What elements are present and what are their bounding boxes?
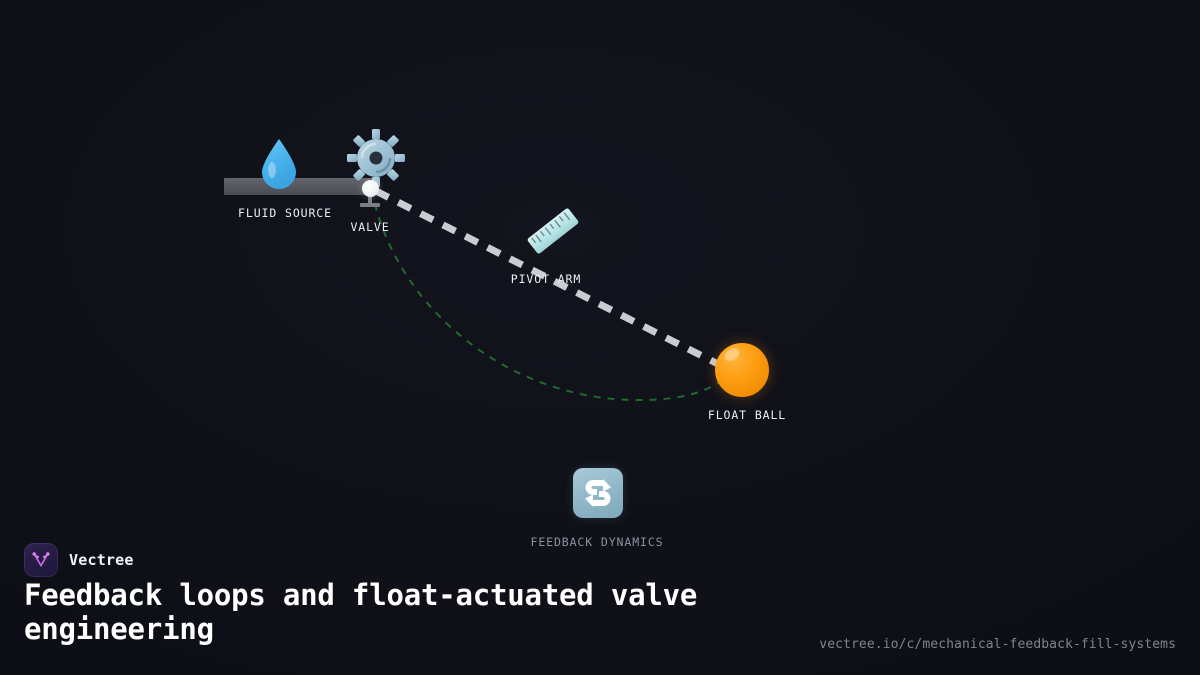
ruler-icon bbox=[522, 200, 584, 262]
vectree-logo-icon bbox=[24, 543, 58, 577]
footer-url: vectree.io/c/mechanical-feedback-fill-sy… bbox=[819, 637, 1176, 652]
gear-icon bbox=[346, 128, 406, 188]
water-droplet-icon bbox=[258, 137, 300, 189]
valve-pivot-node bbox=[362, 180, 379, 197]
brand-row: Vectree bbox=[24, 543, 134, 577]
feedback-loop-arrows-icon bbox=[573, 468, 623, 518]
node-label-valve: VALVE bbox=[350, 220, 389, 234]
footer: Vectree Feedback loops and float-actuate… bbox=[0, 539, 1200, 675]
node-label-fluid-source: FLUID SOURCE bbox=[238, 206, 332, 220]
node-label-pivot-arm: PIVOT ARM bbox=[511, 272, 581, 286]
node-label-float-ball: FLOAT BALL bbox=[708, 408, 786, 422]
brand-name: Vectree bbox=[69, 551, 134, 569]
diagram-canvas: FLUID SOURCE bbox=[0, 0, 1200, 675]
float-ball-icon bbox=[715, 343, 769, 397]
page-title: Feedback loops and float-actuated valve … bbox=[24, 579, 784, 646]
